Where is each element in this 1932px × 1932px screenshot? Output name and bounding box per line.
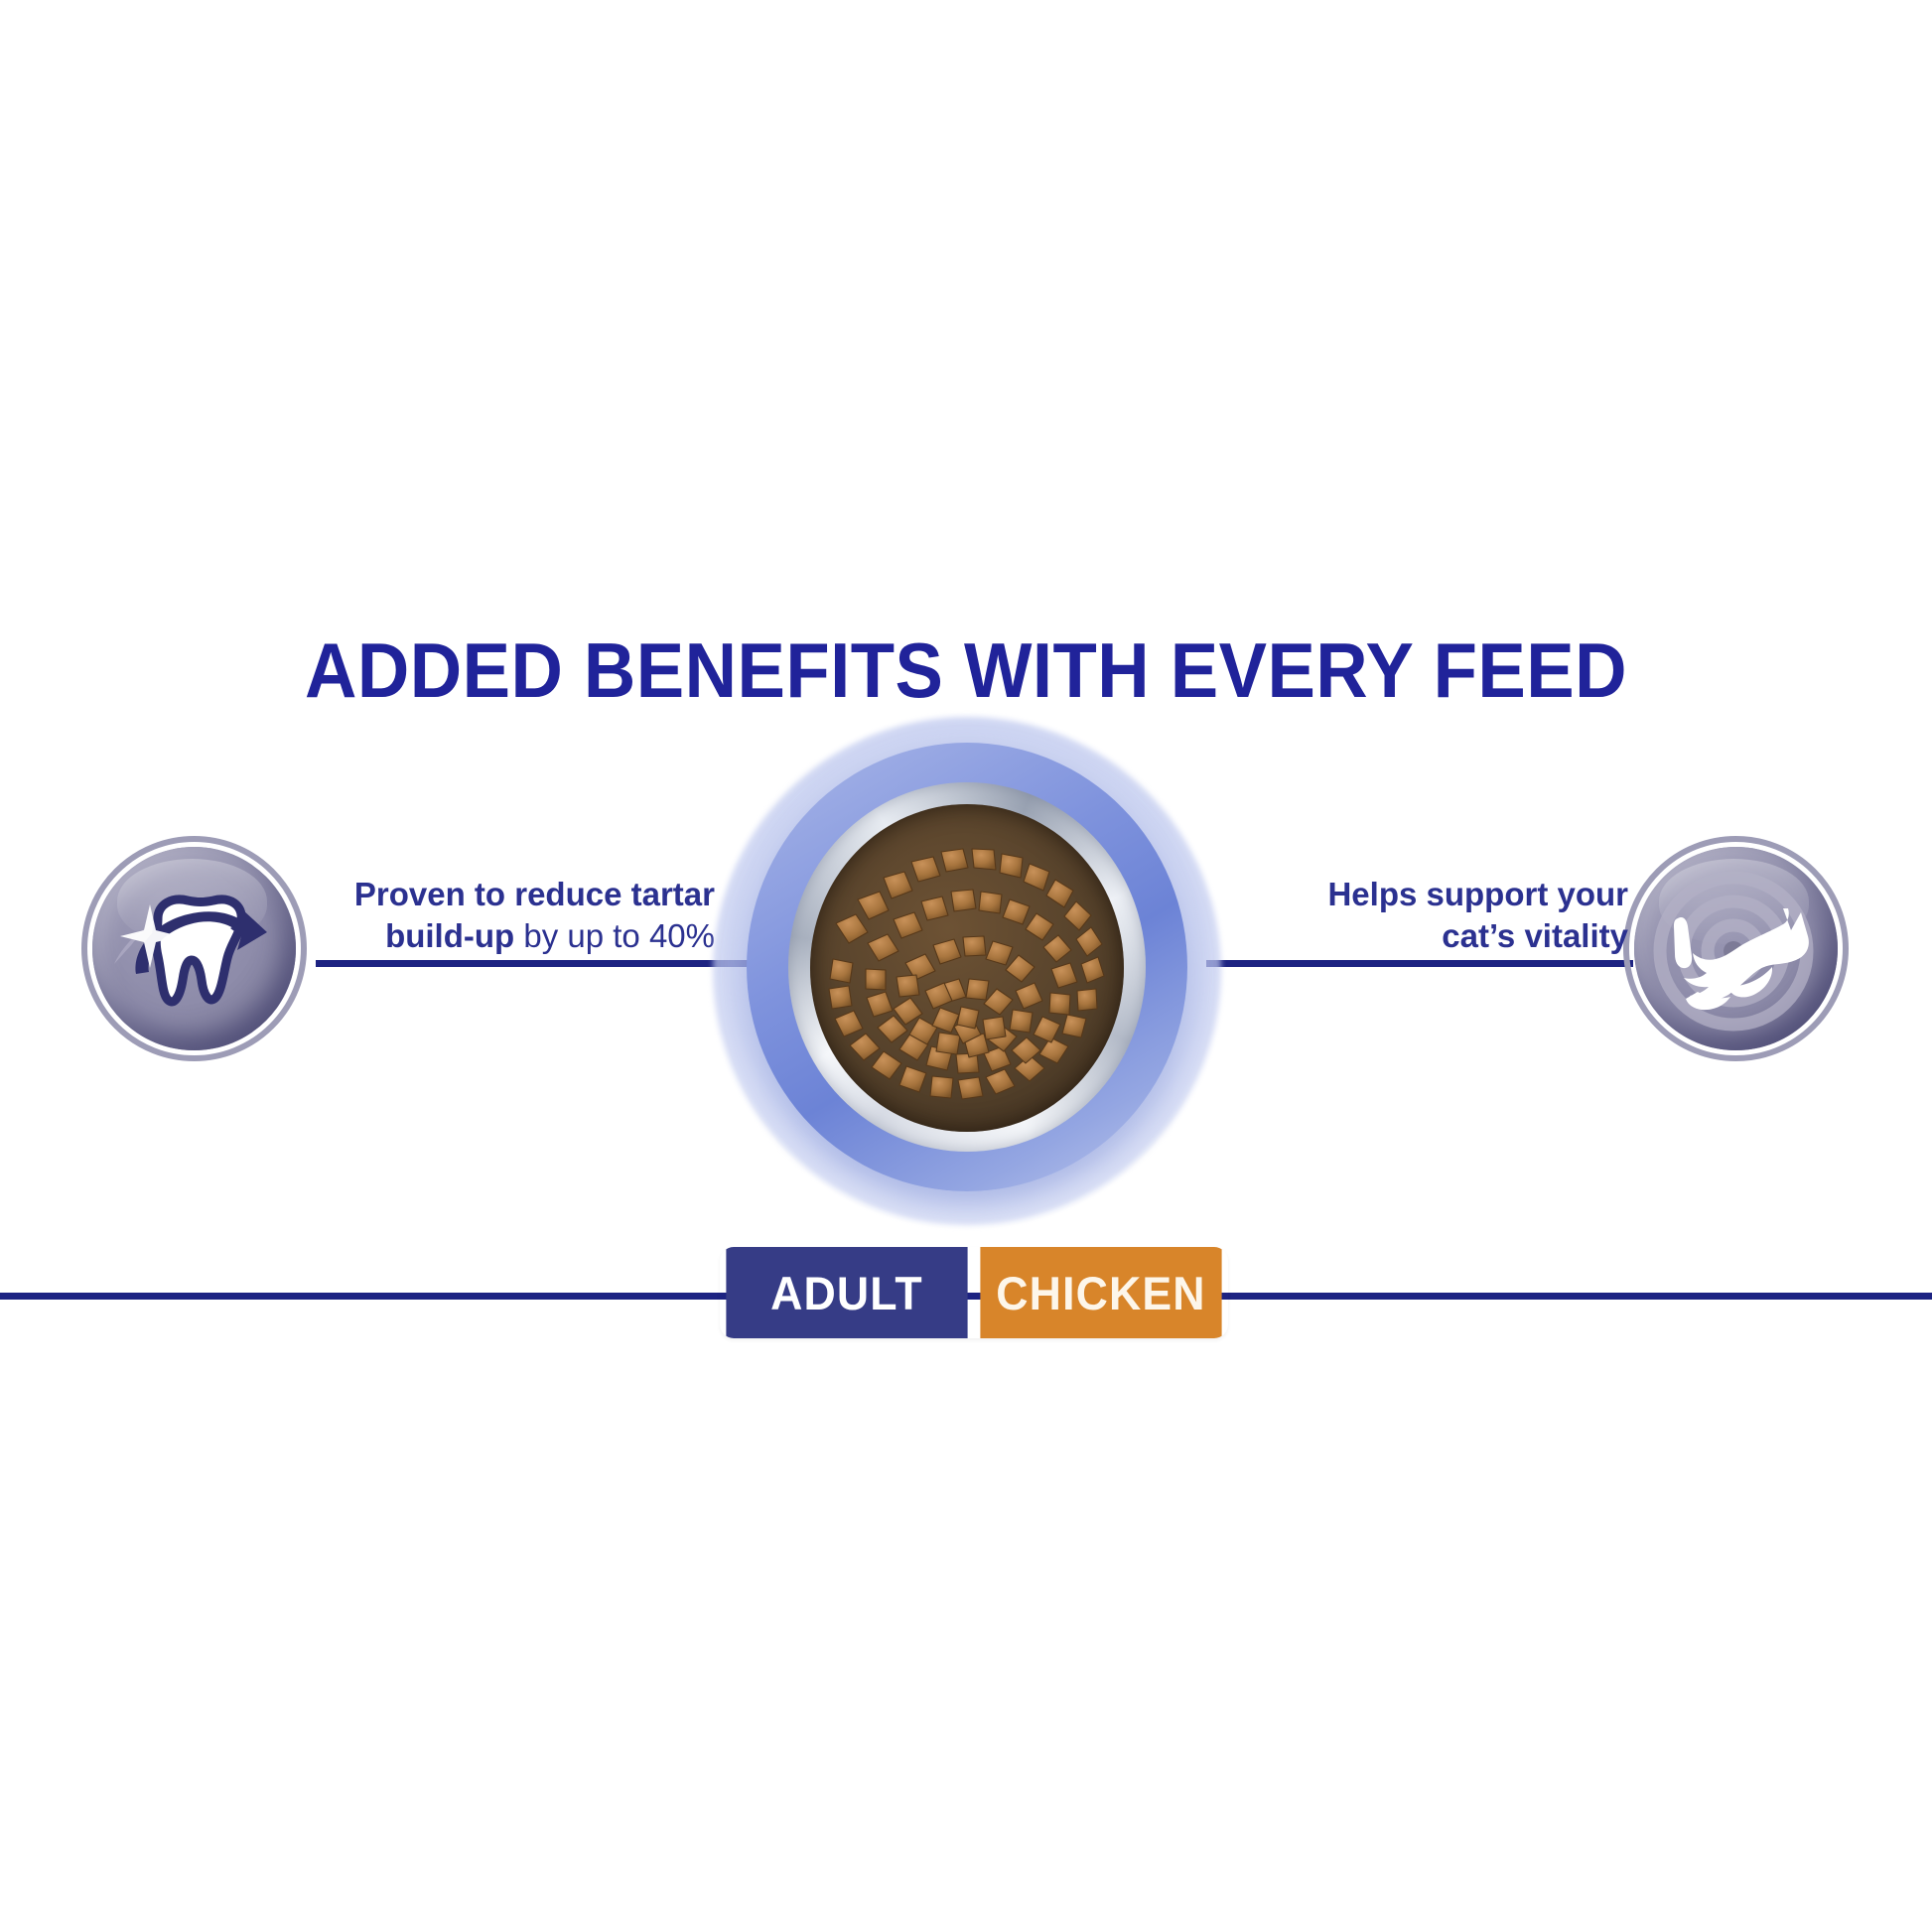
benefit-badge-vitality [1634, 847, 1838, 1050]
variant-badge: ADULT CHICKEN [720, 1247, 1228, 1338]
benefit-text-vitality-line2: cat’s vitality [1442, 917, 1628, 954]
bowl-of-kibble [713, 717, 1221, 1225]
leaping-cat-rings-icon [1634, 847, 1838, 1050]
right-connector-line [1206, 960, 1633, 967]
benefit-badge-dental [92, 847, 296, 1050]
variant-life-stage: ADULT [726, 1247, 967, 1338]
tooth-sparkle-arrow-icon [92, 847, 296, 1050]
kibble-fill [810, 804, 1124, 1132]
page-title: ADDED BENEFITS WITH EVERY FEED [68, 625, 1864, 716]
benefit-text-dental: Proven to reduce tartar build-up by up t… [298, 874, 715, 957]
benefit-text-vitality: Helps support your cat’s vitality [1231, 874, 1628, 957]
left-connector-line [316, 960, 764, 967]
kibble-pieces [810, 804, 1124, 1132]
benefit-text-vitality-line1: Helps support your [1327, 876, 1628, 912]
pack-panel: ADDED BENEFITS WITH EVERY FEED Proven to… [0, 0, 1932, 1932]
variant-flavour: CHICKEN [980, 1247, 1221, 1338]
badge-surface [92, 847, 296, 1050]
badge-surface [1634, 847, 1838, 1050]
benefit-text-dental-regular: by up to 40% [514, 917, 715, 954]
